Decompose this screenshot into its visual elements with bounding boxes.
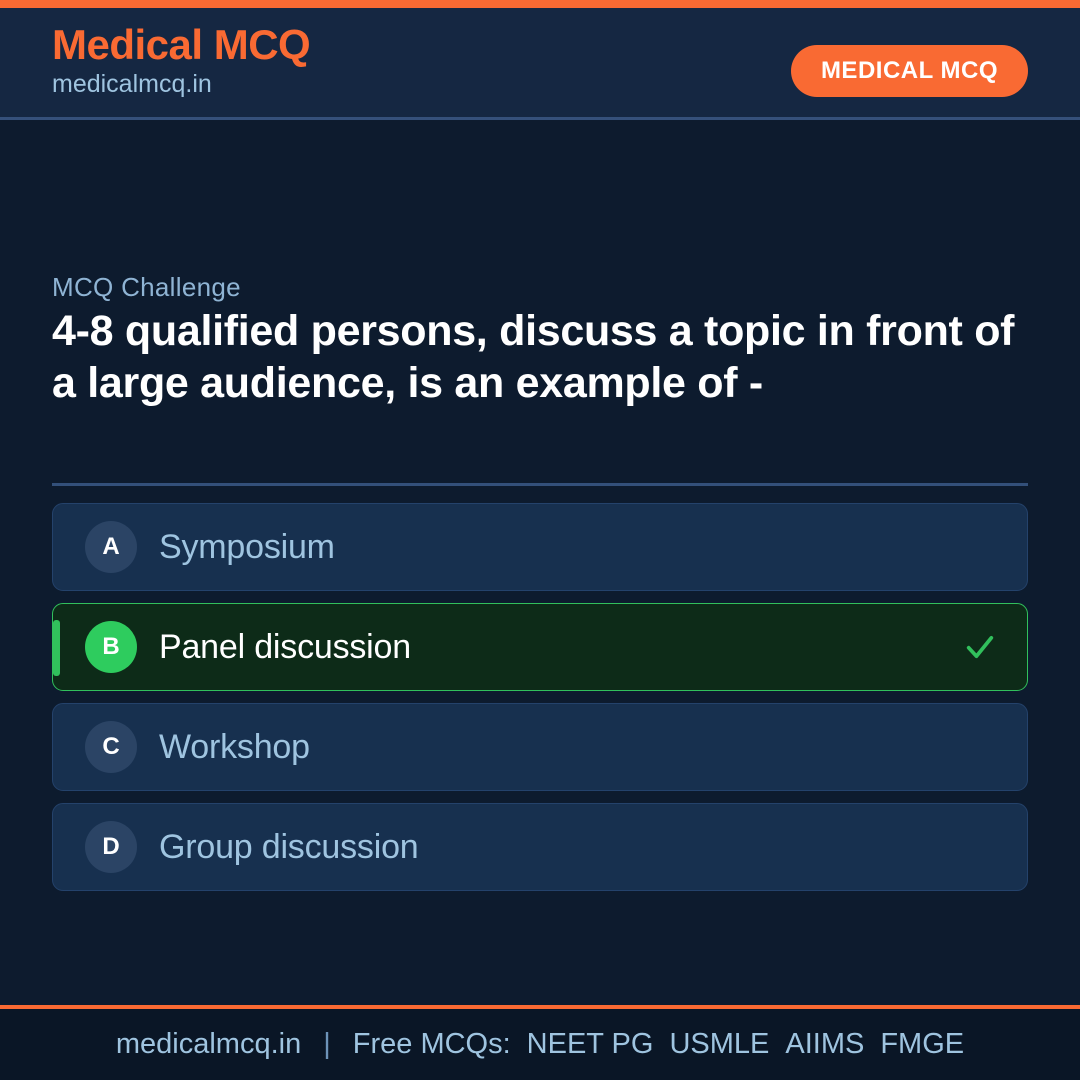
page-footer: medicalmcq.in | Free MCQs: NEET PG USMLE… bbox=[0, 1005, 1080, 1080]
main-content: MCQ Challenge 4-8 qualified persons, dis… bbox=[0, 120, 1080, 1005]
header-badge: MEDICAL MCQ bbox=[791, 45, 1028, 97]
option-letter-badge: D bbox=[85, 821, 137, 873]
check-icon bbox=[963, 630, 997, 664]
option-a[interactable]: A Symposium bbox=[52, 503, 1028, 591]
option-label: Group discussion bbox=[159, 828, 419, 867]
question-text: 4-8 qualified persons, discuss a topic i… bbox=[52, 305, 1032, 410]
footer-exam-neetpg[interactable]: NEET PG bbox=[527, 1028, 654, 1061]
page-header: Medical MCQ medicalmcq.in MEDICAL MCQ bbox=[0, 8, 1080, 120]
footer-site[interactable]: medicalmcq.in bbox=[116, 1028, 301, 1061]
brand-block: Medical MCQ medicalmcq.in bbox=[52, 22, 310, 99]
brand-subtitle: medicalmcq.in bbox=[52, 70, 310, 99]
option-label: Workshop bbox=[159, 728, 310, 767]
question-divider bbox=[52, 483, 1028, 486]
mcq-challenge-label: MCQ Challenge bbox=[52, 272, 241, 303]
footer-exam-aiims[interactable]: AIIMS bbox=[785, 1028, 864, 1061]
footer-exam-usmle[interactable]: USMLE bbox=[669, 1028, 769, 1061]
option-label: Symposium bbox=[159, 528, 335, 567]
option-label: Panel discussion bbox=[159, 628, 411, 667]
option-d[interactable]: D Group discussion bbox=[52, 803, 1028, 891]
option-letter-badge: A bbox=[85, 521, 137, 573]
option-b[interactable]: B Panel discussion bbox=[52, 603, 1028, 691]
options-list: A Symposium B Panel discussion C Worksho… bbox=[52, 503, 1028, 903]
correct-accent-bar bbox=[53, 620, 60, 676]
brand-title: Medical MCQ bbox=[52, 22, 310, 68]
footer-exams-label: Free MCQs: bbox=[353, 1028, 511, 1061]
option-c[interactable]: C Workshop bbox=[52, 703, 1028, 791]
option-letter-badge: C bbox=[85, 721, 137, 773]
footer-row: medicalmcq.in | Free MCQs: NEET PG USMLE… bbox=[116, 1028, 964, 1061]
footer-separator: | bbox=[323, 1028, 331, 1061]
option-letter-badge: B bbox=[85, 621, 137, 673]
top-accent-bar bbox=[0, 0, 1080, 8]
footer-exam-fmge[interactable]: FMGE bbox=[880, 1028, 964, 1061]
